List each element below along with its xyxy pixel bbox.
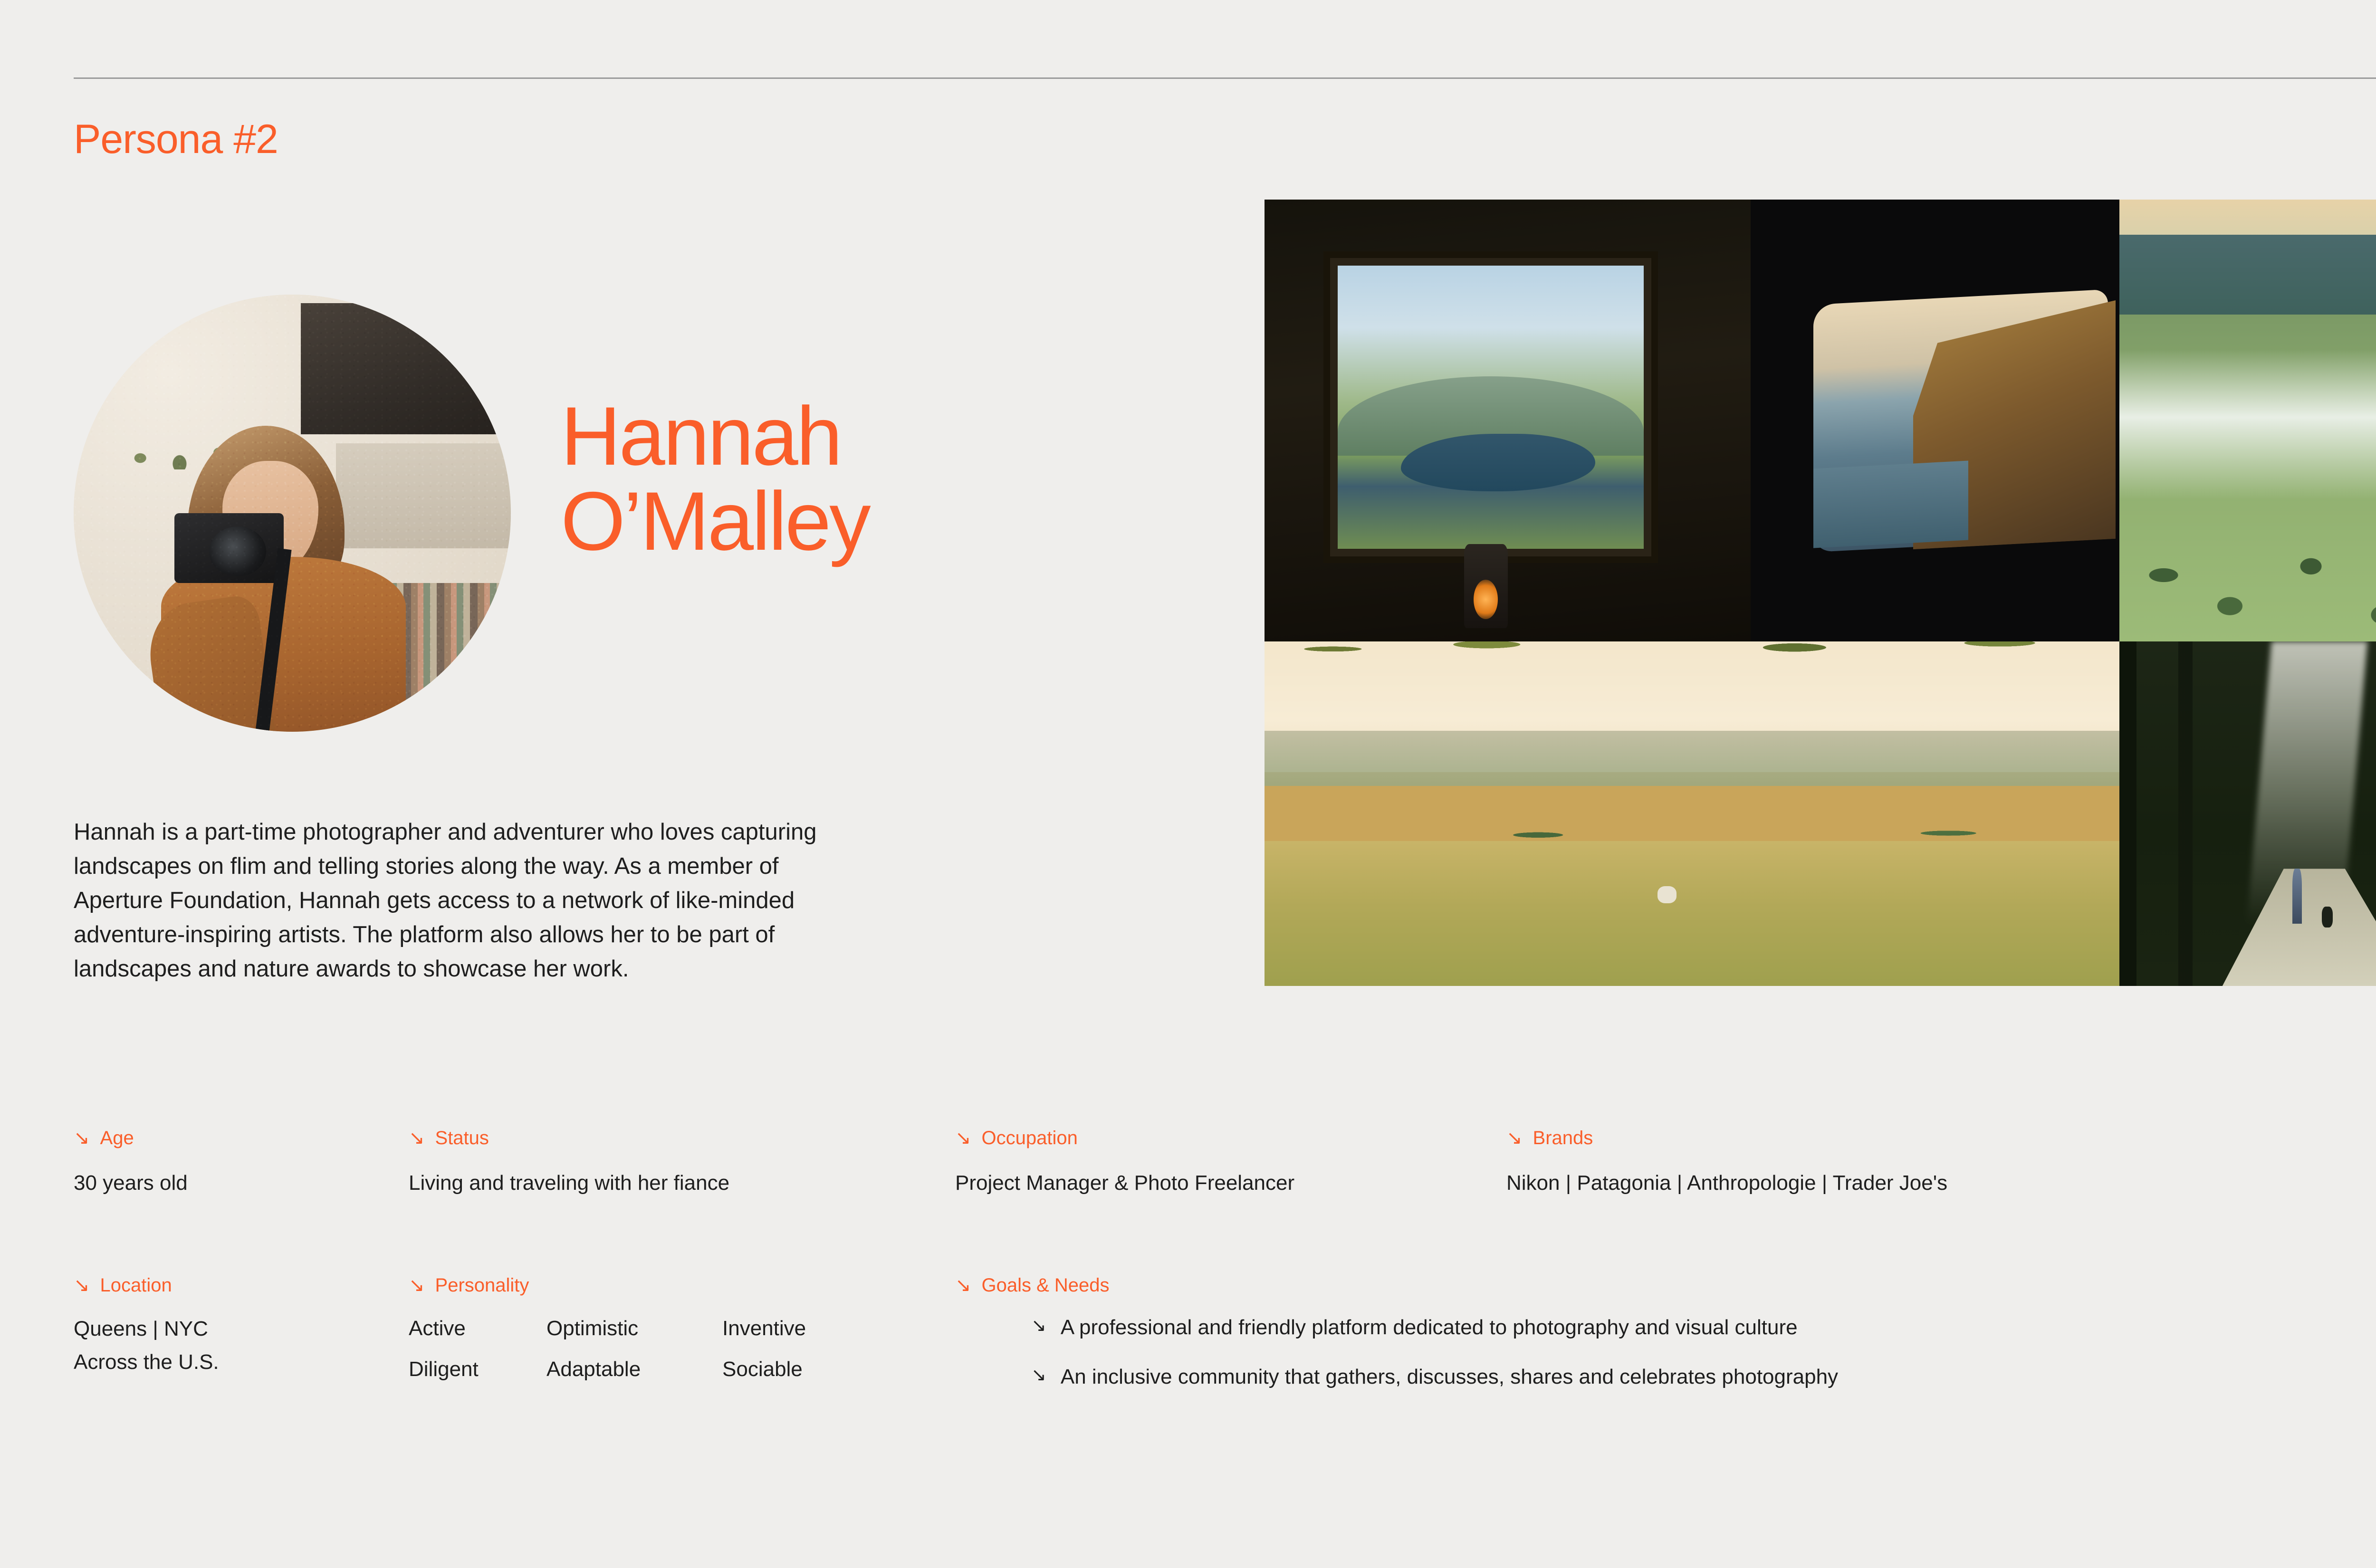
persona-name-line-2: O’Malley [561,479,1226,564]
photo-window-valley-lantern [1265,200,1751,641]
photo-golden-pasture-sheep [1265,641,2119,986]
label-location: ↘Location [74,1274,172,1296]
header-divider [74,77,2376,79]
personality-trait: Diligent [409,1353,546,1386]
arrow-down-right-icon: ↘ [409,1274,425,1296]
arrow-down-right-icon: ↘ [1506,1127,1523,1149]
arrow-down-right-icon: ↘ [1031,1361,1046,1390]
arrow-down-right-icon: ↘ [74,1274,90,1296]
goal-item: ↘ A professional and friendly platform d… [1031,1311,1838,1344]
label-status-text: Status [435,1128,489,1148]
label-age-text: Age [100,1128,134,1148]
personality-trait: Sociable [722,1353,806,1386]
personality-trait: Optimistic [546,1312,722,1345]
label-goals-text: Goals & Needs [982,1275,1110,1296]
value-location-line-1: Queens | NYC [74,1312,219,1346]
label-brands: ↘Brands [1506,1127,1593,1149]
lantern-flame [1474,580,1498,620]
value-location-line-2: Across the U.S. [74,1346,219,1379]
goal-item: ↘ An inclusive community that gathers, d… [1031,1361,1838,1393]
personality-trait: Active [409,1312,546,1345]
photo-forest-light-beams-walker [2119,641,2376,986]
goal-item-text: An inclusive community that gathers, dis… [1061,1361,1838,1393]
arrow-down-right-icon: ↘ [409,1127,425,1149]
value-location: Queens | NYC Across the U.S. [74,1312,219,1379]
personality-trait: Inventive [722,1312,806,1345]
persona-name: Hannah O’Malley [561,394,1226,564]
overhanging-branches [1265,641,2119,717]
label-location-text: Location [100,1275,172,1296]
label-personality: ↘Personality [409,1274,529,1296]
value-status: Living and traveling with her fiance [409,1166,729,1200]
photo-collage [1265,200,2376,986]
arrow-down-right-icon: ↘ [1031,1311,1046,1340]
arrow-down-right-icon: ↘ [74,1127,90,1149]
persona-name-line-1: Hannah [561,394,1226,479]
persona-avatar [74,295,511,732]
personality-traits: Active Optimistic Inventive Diligent Ada… [409,1312,806,1386]
photo-misty-valley-sunrise [2119,200,2376,641]
photo-car-window-sea-cliffs [1751,200,2119,641]
arrow-down-right-icon: ↘ [955,1274,971,1296]
label-goals: ↘Goals & Needs [955,1274,1110,1296]
avatar-film-grain [74,295,511,732]
valley-fog [2119,350,2376,500]
persona-description: Hannah is a part-time photographer and a… [74,815,853,986]
label-brands-text: Brands [1533,1128,1593,1148]
goals-list: ↘ A professional and friendly platform d… [1031,1311,1838,1410]
page-title: Persona #2 [74,119,278,160]
label-age: ↘Age [74,1127,134,1149]
label-status: ↘Status [409,1127,489,1149]
value-age: 30 years old [74,1166,188,1200]
grazing-sheep [1657,886,1677,903]
arrow-down-right-icon: ↘ [955,1127,971,1149]
goal-item-text: A professional and friendly platform ded… [1061,1311,1798,1344]
walking-person [2292,869,2302,924]
ocean [1813,460,1968,548]
label-personality-text: Personality [435,1275,529,1296]
dog [2322,907,2333,927]
value-brands: Nikon | Patagonia | Anthropologie | Trad… [1506,1166,1947,1200]
label-occupation: ↘Occupation [955,1127,1078,1149]
pasture-field [1265,841,2119,986]
personality-trait: Adaptable [546,1353,722,1386]
label-occupation-text: Occupation [982,1128,1078,1148]
value-occupation: Project Manager & Photo Freelancer [955,1166,1294,1200]
